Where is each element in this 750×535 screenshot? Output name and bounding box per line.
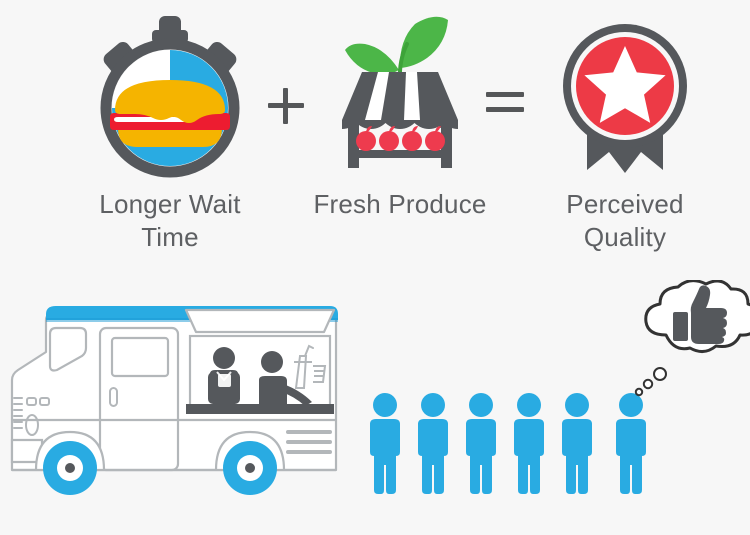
equation-item-longer-wait-time: Longer Wait Time xyxy=(55,10,285,255)
equation-item-label-line2: Quality xyxy=(510,221,740,254)
apples xyxy=(356,126,445,151)
stopwatch-burger-icon xyxy=(55,10,285,180)
equation-item-label: Fresh Produce xyxy=(285,188,515,221)
queue-person xyxy=(562,393,592,494)
truck-wheel-front xyxy=(43,441,97,495)
equation-item-label-line2: Time xyxy=(55,221,285,254)
food-truck-scene xyxy=(0,280,750,535)
market-stall-icon xyxy=(285,10,515,180)
equation-item-perceived-quality: Perceived Quality xyxy=(510,10,740,255)
customer-queue xyxy=(370,393,646,494)
queue-person xyxy=(466,393,496,494)
queue-person xyxy=(514,393,544,494)
equation-item-label: Longer Wait Time xyxy=(55,188,285,255)
equation-item-label: Perceived Quality xyxy=(510,188,740,255)
equation-row: Longer Wait Time xyxy=(0,0,750,280)
award-ribbon-star-icon xyxy=(510,10,740,180)
equation-item-label-line1: Longer Wait xyxy=(55,188,285,221)
infographic-canvas: Longer Wait Time xyxy=(0,0,750,535)
equation-item-label-line1: Perceived xyxy=(510,188,740,221)
queue-person xyxy=(418,393,448,494)
truck-wheel-rear xyxy=(223,441,277,495)
equation-item-label-line1: Fresh Produce xyxy=(285,188,515,221)
queue-person xyxy=(616,393,646,494)
plant-leaves xyxy=(345,17,448,80)
thought-bubble xyxy=(636,281,750,396)
equation-item-fresh-produce: Fresh Produce xyxy=(285,10,515,221)
food-truck-illustration xyxy=(12,306,338,495)
queue-person xyxy=(370,393,400,494)
